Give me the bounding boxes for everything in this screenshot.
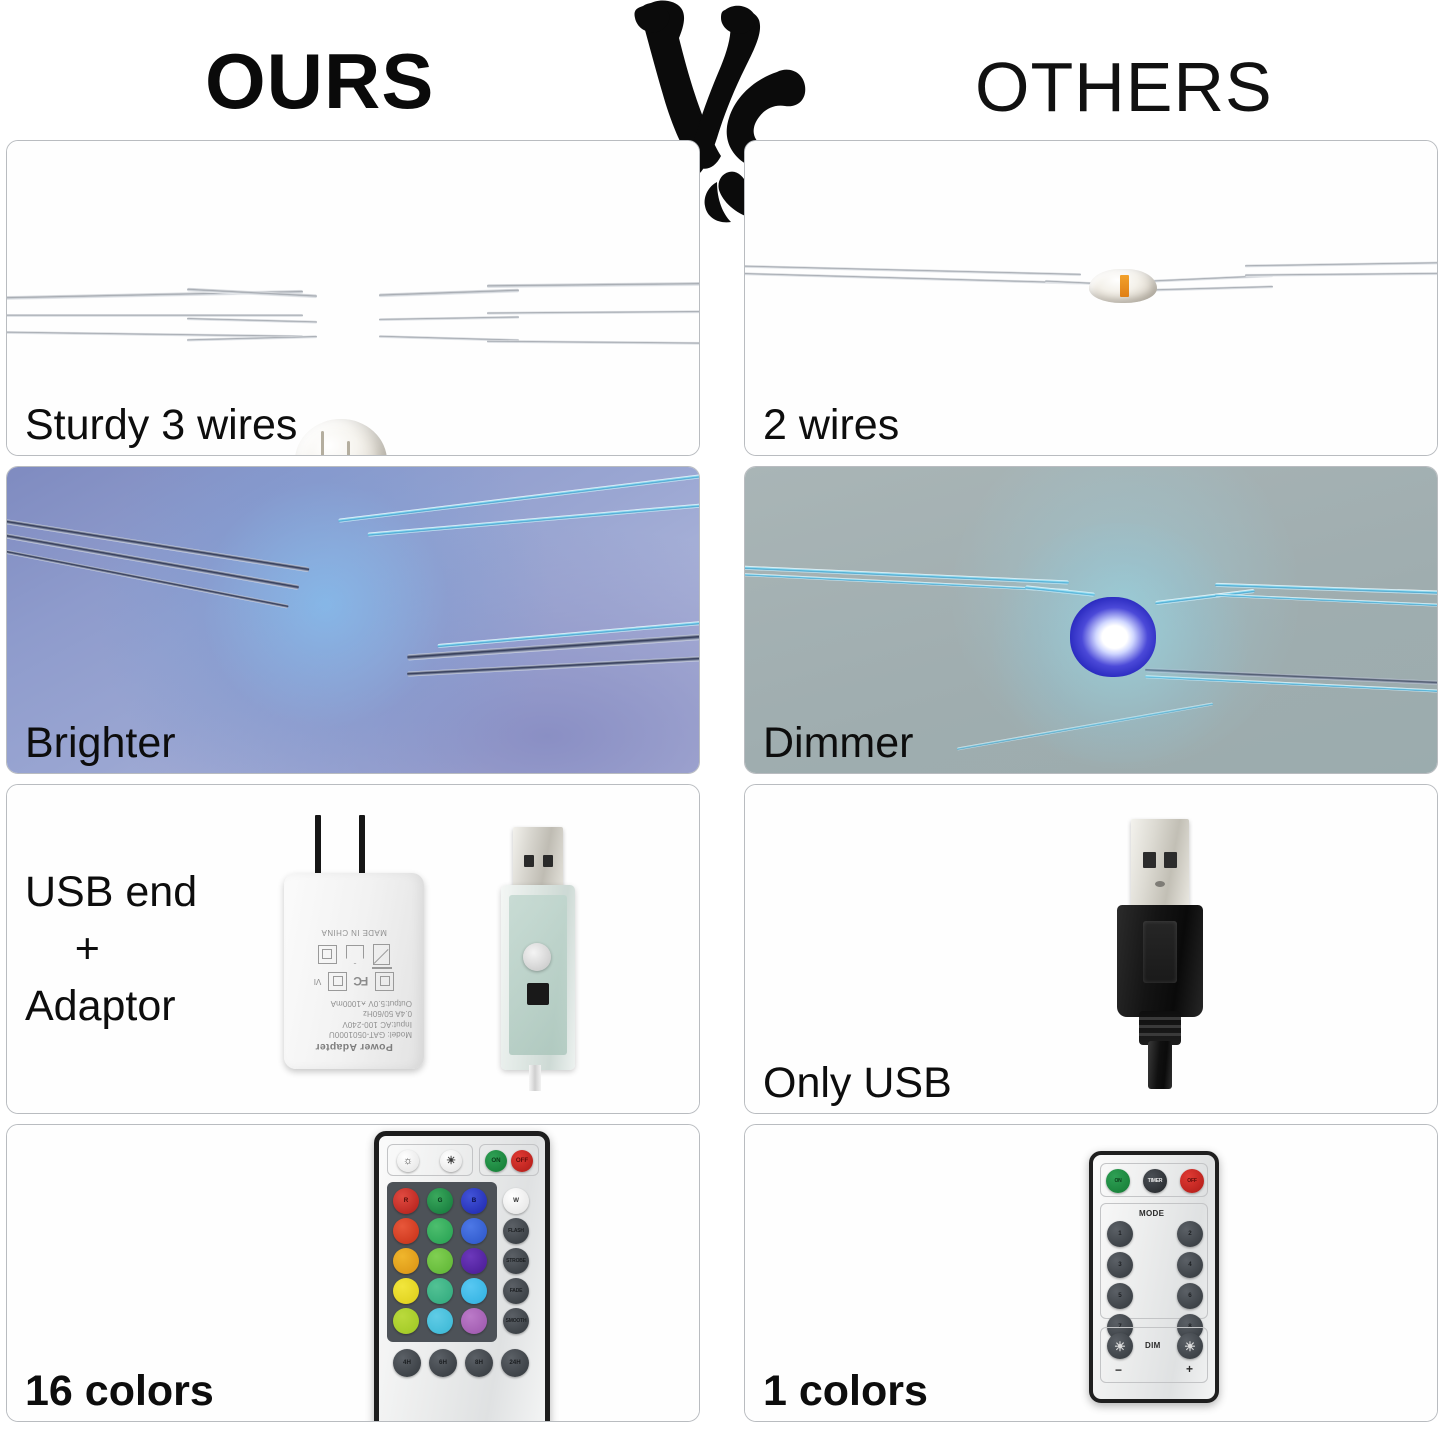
- mode-button-6[interactable]: 6: [1177, 1283, 1203, 1309]
- panel-others-power: Only USB: [744, 784, 1438, 1114]
- class-ii-icon: [318, 945, 337, 964]
- brightness-group: ☼ ☀: [387, 1144, 473, 1176]
- color-button-blue[interactable]: B: [461, 1188, 487, 1214]
- weee-bin-icon: [373, 944, 390, 965]
- off-button[interactable]: OFF: [511, 1150, 533, 1172]
- comparison-grid: Sturdy 3 wires 2 wires: [0, 132, 1445, 1430]
- usb-plug-body: [1117, 905, 1203, 1017]
- color-swatch[interactable]: [461, 1308, 487, 1334]
- panel-others-brightness: Dimmer: [744, 466, 1438, 774]
- color-button-white[interactable]: W: [503, 1188, 529, 1214]
- mode-label: MODE: [1139, 1209, 1164, 1218]
- rgb-remote-44key[interactable]: ☼ ☀ ON OFF R G B W: [374, 1131, 550, 1422]
- strobe-button[interactable]: STROBE: [503, 1248, 529, 1274]
- caption-others-brightness: Dimmer: [763, 722, 913, 765]
- adapter-output: Output:5.0V ⍲1000mA: [331, 998, 412, 1008]
- adapter-symbols: [318, 944, 390, 965]
- timer-24h-button[interactable]: 24H: [501, 1349, 529, 1377]
- mode-button-2[interactable]: 2: [1177, 1221, 1203, 1247]
- adapter-label: Power Adapter Model: GAT-0501000U Input:…: [284, 873, 424, 1069]
- color-swatch[interactable]: [427, 1218, 453, 1244]
- caption-ours-colors: 16 colors: [25, 1370, 214, 1413]
- efficiency-level-icon: VI: [314, 977, 322, 986]
- caption-line-adaptor: Adaptor: [25, 981, 176, 1029]
- color-swatch[interactable]: [427, 1308, 453, 1334]
- timer-4h-button[interactable]: 4H: [393, 1349, 421, 1377]
- mode-button-3[interactable]: 3: [1107, 1252, 1133, 1278]
- color-button-green[interactable]: G: [427, 1188, 453, 1214]
- usb-connector: [1117, 819, 1203, 1084]
- dim-minus-label: −: [1115, 1363, 1122, 1377]
- adapter-model: Model: GAT-0501000U: [329, 1031, 412, 1040]
- color-button-red[interactable]: R: [393, 1188, 419, 1214]
- mode-button-4[interactable]: 4: [1177, 1252, 1203, 1278]
- timer-8h-button[interactable]: 8H: [465, 1349, 493, 1377]
- usb-controller-dongle: [501, 827, 575, 1089]
- caption-others-wires: 2 wires: [763, 404, 899, 447]
- brightness-up-icon: ☀: [1184, 1340, 1196, 1353]
- color-swatch[interactable]: [393, 1278, 419, 1304]
- led-glow: [1070, 597, 1156, 677]
- caption-ours-wires: Sturdy 3 wires: [25, 404, 297, 447]
- power-adapter: Power Adapter Model: GAT-0501000U Input:…: [284, 873, 424, 1069]
- color-swatch[interactable]: [427, 1278, 453, 1304]
- color-swatch[interactable]: [393, 1308, 419, 1334]
- power-group: ON OFF: [479, 1144, 539, 1176]
- on-button[interactable]: ON: [485, 1150, 507, 1172]
- flash-button[interactable]: FLASH: [503, 1218, 529, 1244]
- brightness-down-icon: ☀: [1114, 1340, 1126, 1353]
- comparison-header: OURS OTHERS: [0, 0, 1445, 135]
- usb-output-wire: [529, 1065, 541, 1091]
- usb-cable: [1148, 1041, 1172, 1089]
- power-group: ON TIMER OFF: [1100, 1163, 1208, 1197]
- color-swatch[interactable]: [461, 1278, 487, 1304]
- dim-up-button[interactable]: ☀: [1177, 1333, 1203, 1359]
- color-swatch[interactable]: [427, 1248, 453, 1274]
- panel-ours-colors: ☼ ☀ ON OFF R G B W: [6, 1124, 700, 1422]
- mode-button-5[interactable]: 5: [1107, 1283, 1133, 1309]
- color-swatch[interactable]: [461, 1218, 487, 1244]
- usb-clear-housing: [501, 885, 575, 1070]
- caption-ours-brightness: Brighter: [25, 722, 176, 765]
- led-chip: [1120, 275, 1129, 297]
- chip-icon: [527, 983, 549, 1005]
- ul-listed-icon: [375, 972, 394, 991]
- mode-button-1[interactable]: 1: [1107, 1221, 1133, 1247]
- off-button[interactable]: OFF: [1180, 1169, 1204, 1193]
- brightness-down-icon: ☼: [403, 1156, 413, 1167]
- panel-ours-power: Power Adapter Model: GAT-0501000U Input:…: [6, 784, 700, 1114]
- adapter-origin: MADE IN CHINA: [321, 928, 387, 937]
- caption-ours-power: USB end + Adaptor: [25, 864, 197, 1034]
- caption-line-usb-end: USB end: [25, 868, 197, 916]
- fade-button[interactable]: FADE: [503, 1278, 529, 1304]
- timer-6h-button[interactable]: 6H: [429, 1349, 457, 1377]
- on-button[interactable]: ON: [1106, 1169, 1130, 1193]
- dim-label: DIM: [1145, 1341, 1161, 1350]
- color-swatch[interactable]: [393, 1248, 419, 1274]
- dim-plus-label: +: [1186, 1362, 1193, 1376]
- color-swatch[interactable]: [461, 1248, 487, 1274]
- usb-plug-metal: [1131, 819, 1189, 911]
- panel-others-wires: 2 wires: [744, 140, 1438, 456]
- panel-ours-wires: Sturdy 3 wires: [6, 140, 700, 456]
- page-title-ours: OURS: [205, 42, 434, 120]
- adapter-brand: Power Adapter: [315, 1041, 393, 1053]
- brightness-up-icon: ☀: [446, 1156, 456, 1167]
- dim-down-button[interactable]: ☀: [1107, 1333, 1133, 1359]
- color-swatch[interactable]: [393, 1218, 419, 1244]
- indoor-use-icon: [346, 945, 364, 964]
- caption-line-plus: +: [25, 921, 150, 978]
- adapter-input: Input:AC 100-240V: [342, 1020, 412, 1029]
- smooth-button[interactable]: SMOOTH: [503, 1308, 529, 1334]
- timer-button[interactable]: TIMER: [1143, 1169, 1167, 1193]
- ce-mark-icon: [328, 972, 347, 991]
- panel-ours-brightness: Brighter: [6, 466, 700, 774]
- caption-others-colors: 1 colors: [763, 1370, 928, 1413]
- circuit-board: [509, 895, 567, 1055]
- cable-strain-relief: [1139, 1011, 1181, 1045]
- led-bulb: [295, 419, 387, 456]
- adapter-current: 0.4A 50/60Hz: [363, 1010, 412, 1019]
- brightness-down-button[interactable]: ☼: [397, 1150, 419, 1172]
- page-title-others: OTHERS: [975, 52, 1273, 122]
- caption-others-power: Only USB: [763, 1062, 952, 1105]
- led-bulb: [1089, 269, 1157, 303]
- mono-remote-17key[interactable]: ON TIMER OFF MODE 1 2 3 4 5 6 7 8 ☀: [1089, 1151, 1219, 1403]
- adapter-certifications: FC VI: [314, 972, 395, 991]
- panel-others-colors: ON TIMER OFF MODE 1 2 3 4 5 6 7 8 ☀: [744, 1124, 1438, 1422]
- capacitor: [523, 943, 551, 971]
- brightness-up-button[interactable]: ☀: [440, 1150, 462, 1172]
- fcc-icon: FC: [354, 975, 368, 989]
- usb-trident-icon: [1153, 931, 1167, 973]
